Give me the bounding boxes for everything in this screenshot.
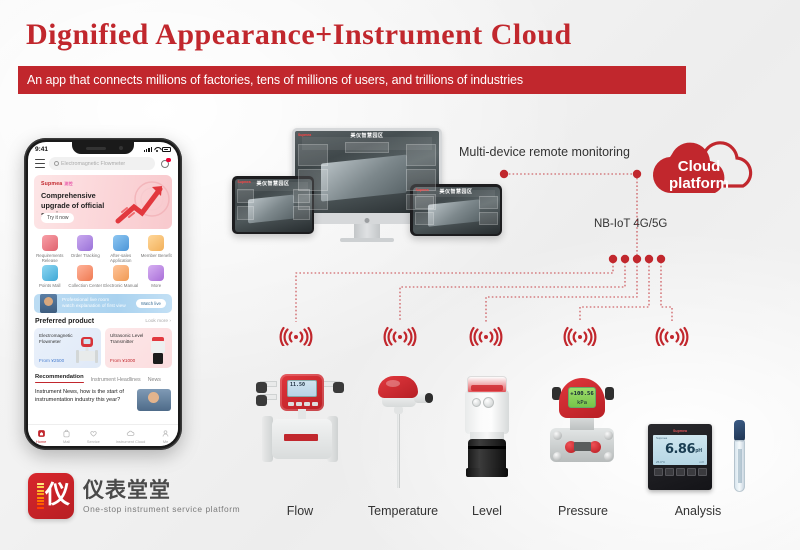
grid-item[interactable]: Electronic Manual [103,265,139,288]
product-card[interactable]: Ultrasonic Level Transmitter From ¥1000 [105,328,172,368]
flowmeter-thumb-icon [75,336,99,366]
home-icon [37,429,46,438]
look-more-link[interactable]: Look more › [145,319,171,324]
instrument-flow: 11.50 [262,374,338,496]
pressure-transmitter-head: +100.56 kPa [559,378,605,418]
tablet-device: Supmea 美仪智慧园区 [232,176,314,234]
product-list: Electromagnetic Flowmeter From ¥2500 Ult… [28,328,178,368]
flow-label-plate [284,434,318,441]
ph-probe [731,420,748,494]
phone-screen: 9:41 Electromagnetic Flowmeter [28,142,178,446]
instrument-level [458,376,516,498]
grid-item-label: Requirements Release [32,253,68,264]
wifi-icon [154,147,160,152]
promo-banner[interactable]: Supmea测控 Comprehensive upgrade of offici… [34,175,172,229]
logo-bars [37,483,44,509]
nav-item-me[interactable]: Me [161,429,170,444]
promo-cta-button[interactable]: Try it now [41,213,74,223]
level-cap [467,376,507,393]
phone-search-row: Electromagnetic Flowmeter [28,156,178,175]
grid-item-label: Member Benefit [141,253,172,258]
analyzer-brand: Supmea [653,429,707,433]
smartphone-screen: Supmea 美仪智慧园区 [413,187,500,234]
instrument-label-flow: Flow [262,504,338,518]
display-top-left: Supmea [656,436,667,440]
flow-display: 11.50 [287,380,317,397]
tab-news[interactable]: News [148,377,161,383]
grid-item[interactable]: After-sales Application [103,235,139,264]
instrument-analysis: Supmea Supmea 6.86 pH 25.0°C mV [648,424,748,498]
quick-action-grid: Requirements Release Order Tracking Afte… [28,229,178,291]
grid-item-label: Collection Center [68,283,102,288]
product-name: Ultrasonic Level Transmitter [110,333,146,345]
notification-bell-icon[interactable] [159,158,171,170]
phone-mockup: 9:41 Electromagnetic Flowmeter [24,138,182,450]
grid-item[interactable]: Points Mall [32,265,68,288]
search-icon [54,161,59,166]
member-benefit-icon [148,235,164,251]
wifi-signal-icon [563,320,597,346]
product-name: Electromagnetic Flowmeter [39,333,75,345]
status-indicators [144,147,171,152]
phone-bottom-nav: Home Mall Service [28,424,178,446]
analyzer-keypad[interactable] [653,468,707,476]
more-icon [148,265,164,281]
wifi-signal-icon [655,320,689,346]
multi-device-label: Multi-device remote monitoring [459,145,630,159]
status-time: 9:41 [35,146,48,153]
product-price: From ¥1000 [110,358,135,363]
page-title: Dignified Appearance+Instrument Cloud [26,18,572,52]
tab-instrument-headlines[interactable]: Instrument Headlines [91,377,141,383]
grid-item-label: More [151,283,161,288]
grid-item[interactable]: Requirements Release [32,235,68,264]
news-thumbnail [137,389,171,411]
electronic-manual-icon [113,265,129,281]
preferred-product-header: Preferred product Look more › [28,313,178,328]
grid-item-label: Points Mall [39,283,60,288]
signal-icon [144,147,152,152]
grid-item[interactable]: More [139,265,175,288]
subtitle-text: An app that connects millions of factori… [18,73,523,87]
wifi-signal-icon [383,320,417,346]
person-icon [161,429,170,438]
grid-item[interactable]: Member Benefit [139,235,175,264]
screen-title: 美仪智慧园区 [235,180,312,187]
cloud-platform-label: Cloud platform [659,158,739,192]
nav-label: Instrument Cloud [116,439,146,444]
cloud-icon [126,429,135,438]
instrument-label-temperature: Temperature [352,504,454,518]
instrument-temperature [376,376,438,496]
instrument-label-pressure: Pressure [540,504,626,518]
nav-item-home[interactable]: Home [36,429,46,444]
bag-icon [62,429,71,438]
section-title: Preferred product [35,318,94,325]
nav-label: Service [87,439,100,444]
requirements-release-icon [42,235,58,251]
level-transmitter-thumb-icon [146,336,170,366]
analyzer-display: Supmea 6.86 pH 25.0°C mV [653,435,707,465]
temperature-probe [397,406,400,488]
screen-title: 美仪智慧园区 [413,188,500,195]
grid-item-label: After-sales Application [103,253,139,264]
grid-item[interactable]: Order Tracking [68,235,104,264]
nav-item-instrument-cloud[interactable]: Instrument Cloud [116,429,146,444]
smartphone-device: Supmea 美仪智慧园区 [410,184,502,236]
nav-label: Mall [63,439,70,444]
cloud-platform: Cloud platform [645,136,775,214]
watch-live-button[interactable]: Watch live [136,299,166,308]
grid-item-label: Electronic Manual [103,283,138,288]
growth-arrow-icon [112,179,170,227]
monitor-base [340,238,394,242]
wifi-signal-icon [469,320,503,346]
logo-tagline: One-stop instrument service platform [83,504,240,514]
promo-brand: Supmea测控 [41,181,73,187]
presenter-avatar [40,294,57,313]
menu-icon[interactable] [35,159,45,168]
ph-unit: pH [695,448,702,454]
flow-transmitter-head: 11.50 [280,374,324,411]
instrument-pressure: +100.56 kPa [548,378,618,496]
battery-icon [162,147,171,152]
after-sales-application-icon [113,235,129,251]
nav-item-mall[interactable]: Mall [62,429,71,444]
screen-title: 美仪智慧园区 [295,132,439,139]
points-mall-icon [42,265,58,281]
order-tracking-icon [77,235,93,251]
logo-name-cn: 仪表堂堂 [83,479,240,502]
display-bottom-left: 25.0°C [656,460,665,464]
product-card[interactable]: Electromagnetic Flowmeter From ¥2500 [34,328,101,368]
wifi-signal-icon [279,320,313,346]
pressure-display: +100.56 kPa [568,387,596,408]
connection-nodes [500,170,665,263]
analyzer-unit: Supmea Supmea 6.86 pH 25.0°C mV [648,424,712,490]
product-price: From ¥2500 [39,358,64,363]
brand-logo: 仪 仪表堂堂 One-stop instrument service platf… [28,473,240,519]
subtitle-banner: An app that connects millions of factori… [18,66,686,94]
content-tabs: Recommendation Instrument Headlines News [28,368,178,383]
grid-item-label: Order Tracking [71,253,100,258]
phone-status-bar: 9:41 [28,142,178,156]
heart-icon [89,429,98,438]
logo-text: 仪表堂堂 One-stop instrument service platfor… [83,479,240,514]
nav-label: Home [36,439,46,444]
instrument-label-level: Level [455,504,519,518]
monitor-stand [354,224,380,238]
instrument-label-analysis: Analysis [648,504,748,518]
search-input[interactable]: Electromagnetic Flowmeter [49,157,155,170]
search-placeholder: Electromagnetic Flowmeter [61,161,125,167]
temperature-head [378,376,418,398]
nav-label: Me [163,439,168,444]
tablet-screen: Supmea 美仪智慧园区 [235,179,312,232]
logo-mark: 仪 [28,473,74,519]
collection-center-icon [77,265,93,281]
protocol-label: NB-IoT 4G/5G [594,218,667,230]
display-bottom-right: mV [700,460,705,464]
live-stream-banner[interactable]: Professional live room watch explanation… [34,294,172,313]
live-text: Professional live room watch explanation… [57,298,136,310]
news-headline: Instrument News, how is the start of ins… [35,389,132,404]
logo-glyph: 仪 [45,482,67,510]
news-item[interactable]: Instrument News, how is the start of ins… [28,383,178,411]
poster-stage: Dignified Appearance+Instrument Cloud An… [0,0,800,550]
grid-item[interactable]: Collection Center [68,265,104,288]
level-horn [468,439,506,477]
tab-recommendation[interactable]: Recommendation [35,374,84,383]
nav-item-service[interactable]: Service [87,429,100,444]
